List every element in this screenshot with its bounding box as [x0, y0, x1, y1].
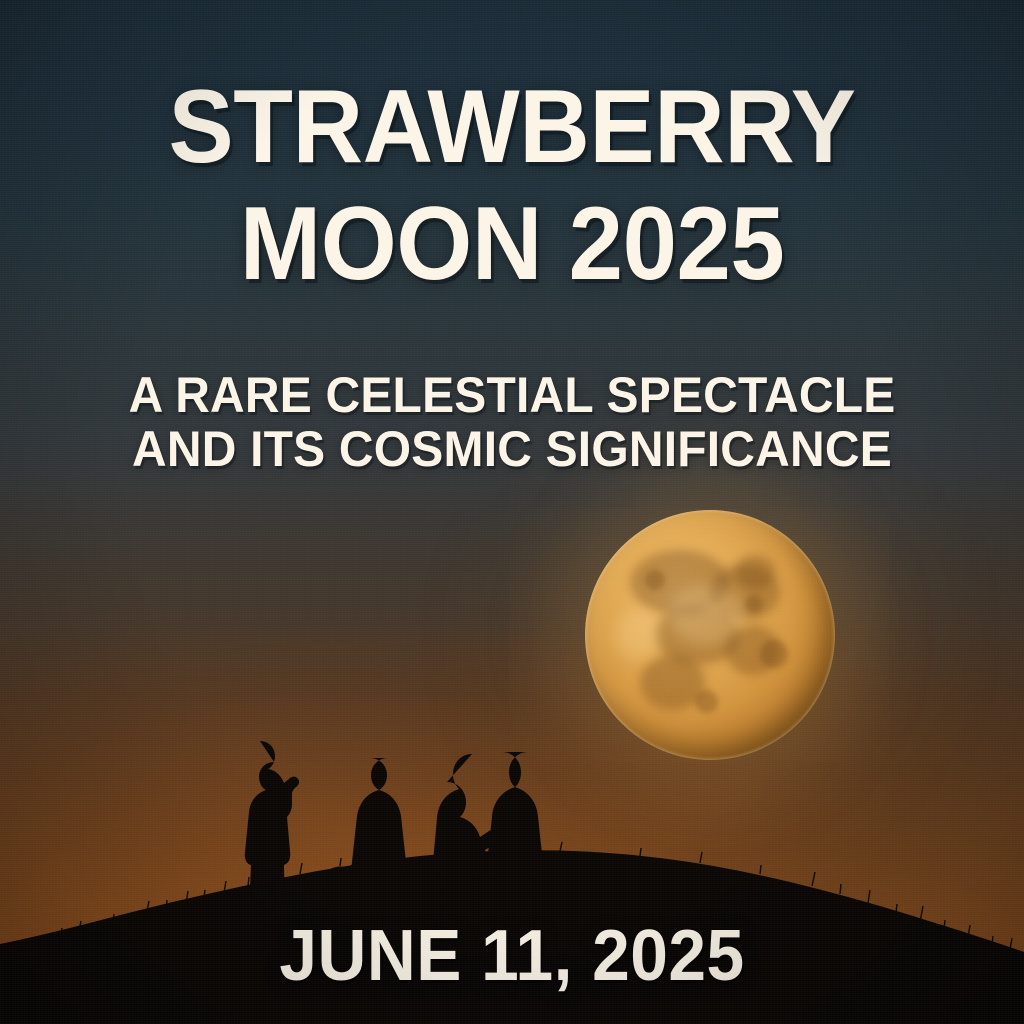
date-text: JUNE 11, 2025	[31, 920, 994, 992]
text-overlay: STRAWBERRY MOON 2025 A RARE CELESTIAL SP…	[0, 0, 1024, 1024]
subtitle-line-1: A RARE CELESTIAL SPECTACLE	[20, 368, 1003, 422]
title-line-2: MOON 2025	[31, 195, 994, 294]
poster-title: STRAWBERRY MOON 2025	[0, 78, 1024, 294]
poster-subtitle: A RARE CELESTIAL SPECTACLE AND ITS COSMI…	[0, 368, 1024, 476]
strawberry-moon-poster: STRAWBERRY MOON 2025 A RARE CELESTIAL SP…	[0, 0, 1024, 1024]
subtitle-line-2: AND ITS COSMIC SIGNIFICANCE	[20, 422, 1003, 476]
poster-date: JUNE 11, 2025	[0, 920, 1024, 992]
title-line-1: STRAWBERRY	[31, 78, 994, 177]
